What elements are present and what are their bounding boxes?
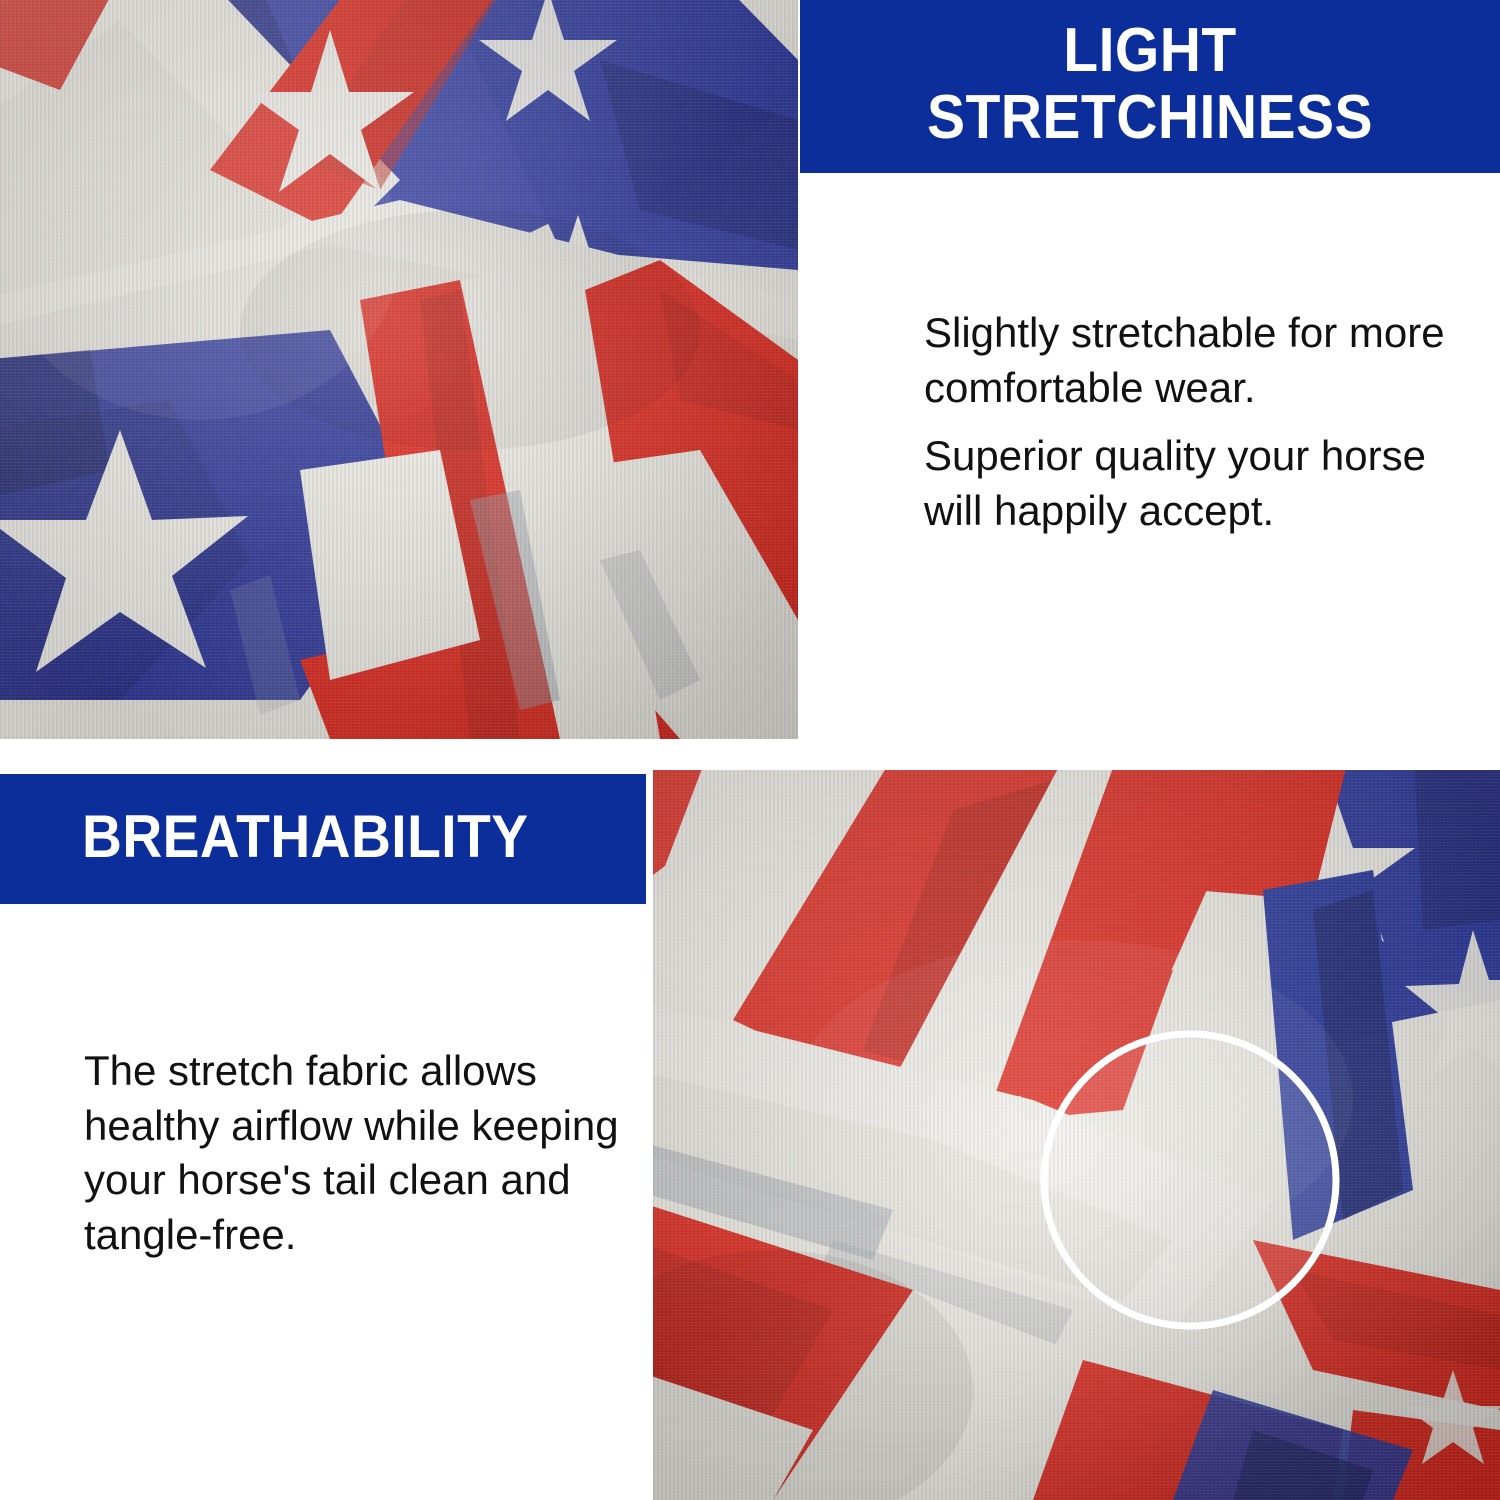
breathability-photo xyxy=(653,770,1500,1500)
breathability-title: BREATHABILITY xyxy=(82,805,529,870)
breathability-banner: BREATHABILITY xyxy=(0,774,646,904)
flag-fabric-breathability-illustration xyxy=(653,770,1500,1500)
circle-highlight-callout xyxy=(1044,1034,1336,1326)
light-stretchiness-photo xyxy=(0,0,798,739)
product-infographic: LIGHT STRETCHINESS Slightly stretchable … xyxy=(0,0,1500,1500)
light-stretchiness-banner: LIGHT STRETCHINESS xyxy=(800,0,1500,173)
breathability-copy: The stretch fabric allows healthy airflo… xyxy=(84,1044,632,1262)
light-stretchiness-paragraph-1: Slightly stretchable for more comfortabl… xyxy=(924,306,1480,415)
light-stretchiness-copy: Slightly stretchable for more comfortabl… xyxy=(924,306,1480,538)
light-stretchiness-title: LIGHT STRETCHINESS xyxy=(846,18,1453,152)
breathability-paragraph-1: The stretch fabric allows healthy airflo… xyxy=(84,1044,632,1262)
flag-fabric-illustration xyxy=(0,0,798,739)
light-stretchiness-paragraph-2: Superior quality your horse will happily… xyxy=(924,429,1480,538)
